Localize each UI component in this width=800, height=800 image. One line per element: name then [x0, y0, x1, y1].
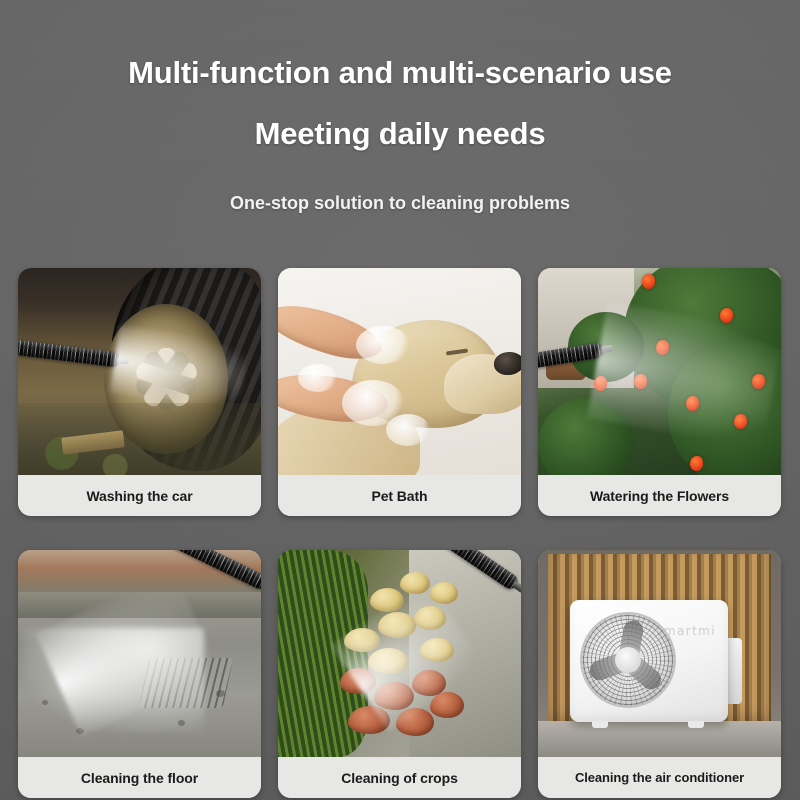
card-caption-cleaning-of-crops: Cleaning of crops [278, 757, 521, 798]
flower-bloom [690, 456, 703, 471]
card-caption-washing-the-car: Washing the car [18, 475, 261, 516]
sweet-potato [396, 708, 434, 736]
curb-edge [18, 592, 261, 618]
sweet-potato [340, 668, 376, 694]
headings-block: Multi-function and multi-scenario use Me… [0, 0, 800, 212]
ground-surface [538, 721, 781, 757]
photo-washing-the-car [18, 268, 261, 475]
dog-nose-shape [494, 352, 521, 375]
flower-bloom [686, 396, 699, 411]
photo-watering-the-flowers [538, 268, 781, 475]
wet-patch [24, 628, 204, 732]
potato [414, 606, 446, 630]
flower-bloom [656, 340, 669, 355]
photo-cleaning-of-crops [278, 550, 521, 757]
scenario-card-washing-the-car[interactable]: Washing the car [18, 268, 261, 516]
scenario-card-cleaning-of-crops[interactable]: Cleaning of crops [278, 550, 521, 798]
card-caption-pet-bath: Pet Bath [278, 475, 521, 516]
page-title-line-2: Meeting daily needs [0, 118, 800, 149]
sweet-potato [430, 692, 464, 718]
card-caption-watering-the-flowers: Watering the Flowers [538, 475, 781, 516]
page-title-line-1: Multi-function and multi-scenario use [0, 57, 800, 88]
scenario-card-pet-bath[interactable]: Pet Bath [278, 268, 521, 516]
card-caption-cleaning-the-floor: Cleaning the floor [18, 757, 261, 798]
potato [344, 628, 380, 652]
flower-bloom [752, 374, 765, 389]
potato [400, 572, 430, 594]
scenario-card-grid: Washing the car Pet Bath [18, 268, 782, 798]
air-conditioner-unit: smartmi [570, 600, 728, 722]
photo-cleaning-the-air-conditioner: smartmi [538, 550, 781, 757]
flower-bloom [720, 308, 733, 323]
page-subtitle: One-stop solution to cleaning problems [0, 194, 800, 212]
potato [430, 582, 458, 604]
fan-grille-icon [580, 612, 676, 708]
soap-foam [356, 326, 410, 364]
fan-hub [615, 647, 641, 673]
potato [368, 648, 408, 674]
scenario-card-watering-the-flowers[interactable]: Watering the Flowers [538, 268, 781, 516]
soap-foam [386, 414, 430, 446]
card-caption-cleaning-the-air-conditioner: Cleaning the air conditioner [538, 757, 781, 798]
flower-bloom [734, 414, 747, 429]
sweet-potato [374, 682, 414, 710]
photo-pet-bath [278, 268, 521, 475]
shrub-foliage [538, 398, 634, 475]
photo-cleaning-the-floor [18, 550, 261, 757]
spray-nozzle-icon [18, 339, 121, 367]
promo-page: Multi-function and multi-scenario use Me… [0, 0, 800, 800]
potato [378, 612, 416, 638]
scenario-card-cleaning-the-floor[interactable]: Cleaning the floor [18, 550, 261, 798]
flower-bloom [634, 374, 647, 389]
scenario-card-cleaning-the-air-conditioner[interactable]: smartmi Cleaning the air conditioner [538, 550, 781, 798]
dirt-ground [18, 403, 261, 475]
soap-foam [298, 364, 338, 392]
potato [370, 588, 404, 612]
sweet-potato [348, 706, 390, 734]
flower-bloom [594, 376, 607, 391]
potato [420, 638, 454, 662]
flower-bloom [642, 274, 655, 289]
ac-side-panel [726, 638, 742, 704]
